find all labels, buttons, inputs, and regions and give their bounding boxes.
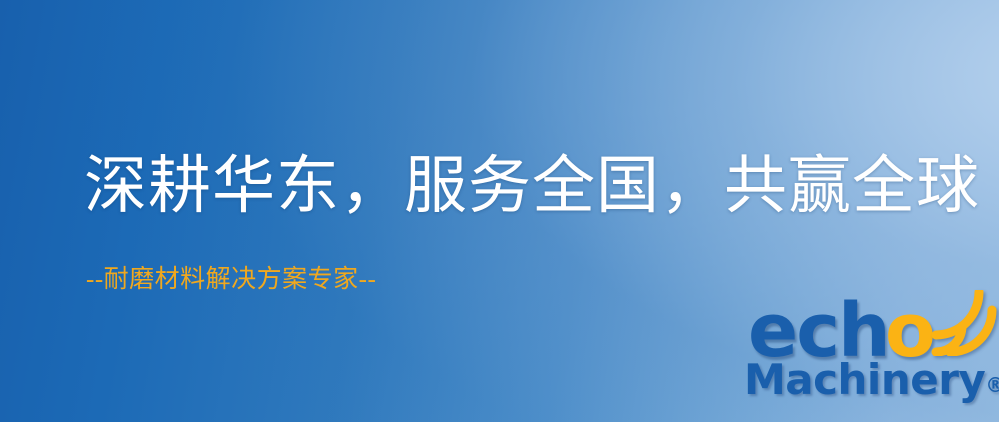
promo-banner: 深耕华东，服务全国，共赢全球 --耐磨材料解决方案专家-- ech o Mach… xyxy=(0,0,999,422)
registered-trademark-icon: ® xyxy=(985,373,999,397)
signal-waves-icon xyxy=(930,290,999,356)
logo-machinery-word: Machinery xyxy=(744,355,985,404)
logo-text-machinery: Machinery® xyxy=(744,359,999,401)
page-title: 深耕华东，服务全国，共赢全球 xyxy=(84,152,980,220)
page-subtitle: --耐磨材料解决方案专家-- xyxy=(86,266,376,295)
company-logo[interactable]: ech o Machinery® xyxy=(744,296,996,420)
